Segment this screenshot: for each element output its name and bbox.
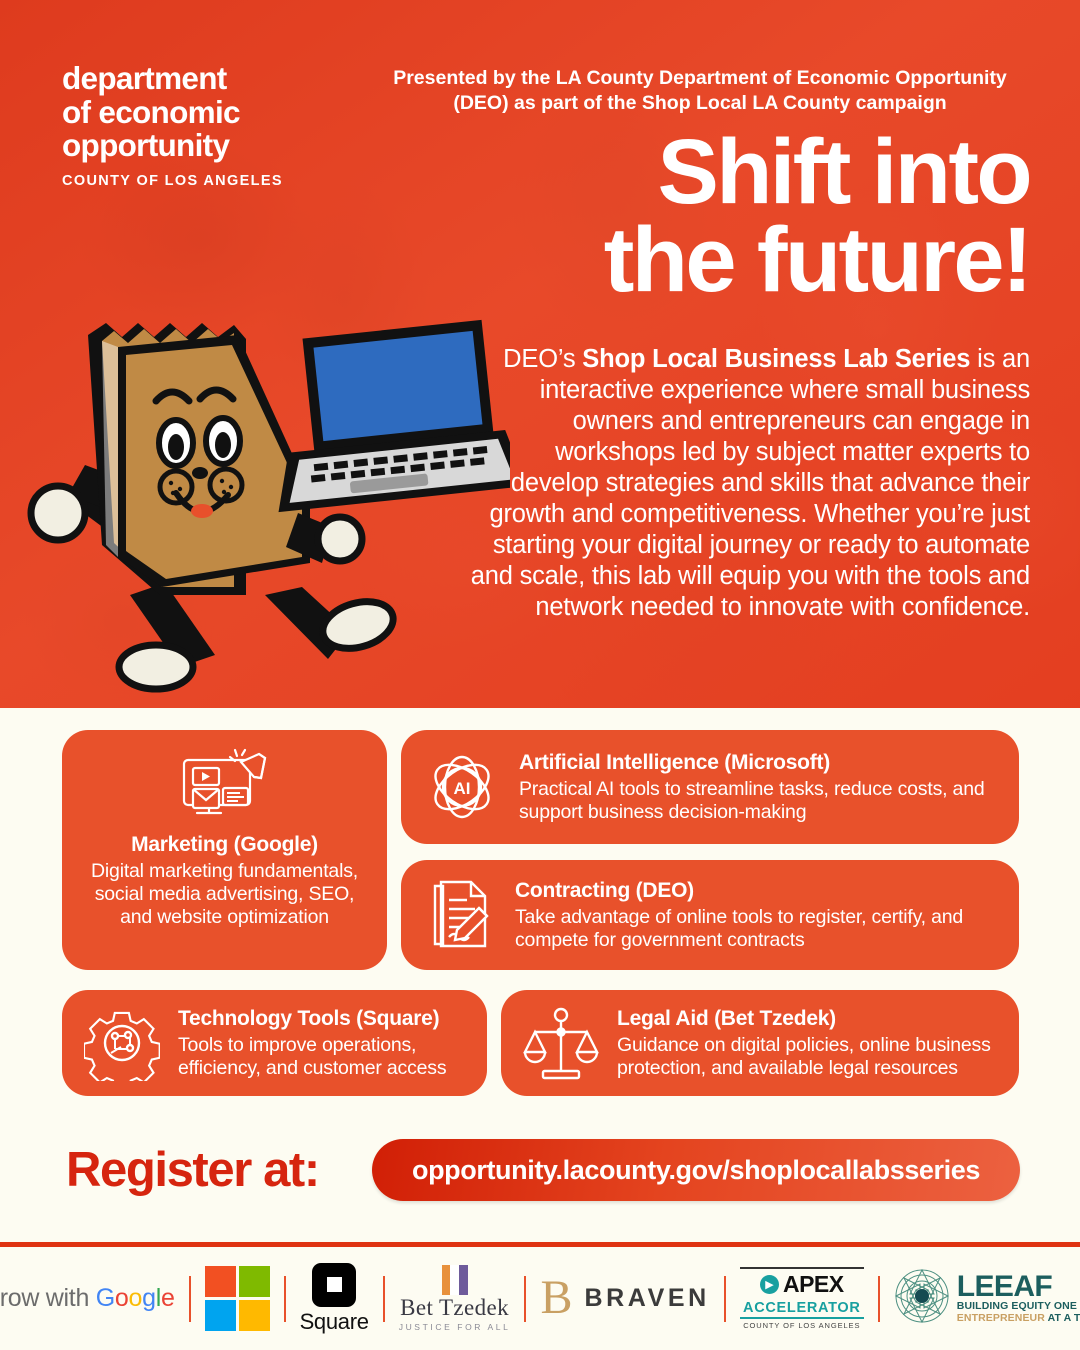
- presenter-text: Presented by the LA County Department of…: [370, 66, 1030, 116]
- document-pencil-icon: [423, 876, 497, 954]
- partner-logo-bet-tzedek: Bet Tzedek JUSTICE FOR ALL: [399, 1265, 511, 1332]
- leeaf-tagline-1: BUILDING EQUITY ONE: [957, 1300, 1080, 1312]
- logo-line-1: department: [62, 62, 362, 96]
- partner-logos: Grow with Google Square Bet Tzedek JUSTI…: [0, 1247, 1080, 1350]
- card-technology-tools[interactable]: Technology Tools (Square) Tools to impro…: [62, 990, 487, 1096]
- logo-separator: [383, 1276, 385, 1322]
- microsoft-squares-icon: [205, 1266, 270, 1331]
- bet-tzedek-tagline: JUSTICE FOR ALL: [399, 1322, 511, 1332]
- logo-separator: [524, 1276, 526, 1322]
- card-description: Tools to improve operations, efficiency,…: [178, 1034, 467, 1080]
- card-legal-aid[interactable]: Legal Aid (Bet Tzedek) Guidance on digit…: [501, 990, 1019, 1096]
- card-title: Legal Aid (Bet Tzedek): [617, 1006, 999, 1031]
- braven-label: BRAVEN: [584, 1284, 709, 1313]
- bet-tzedek-flame-icon: [442, 1265, 468, 1295]
- card-description: Practical AI tools to streamline tasks, …: [519, 778, 999, 824]
- logo-line-2: of economic: [62, 96, 362, 130]
- card-contracting[interactable]: Contracting (DEO) Take advantage of onli…: [401, 860, 1019, 970]
- square-mark-icon: [312, 1263, 356, 1307]
- leeaf-tagline-2b: AT A TIME: [1045, 1312, 1080, 1324]
- headline-line-1: Shift into: [657, 121, 1030, 223]
- leeaf-starburst-icon: [894, 1268, 950, 1329]
- card-description: Take advantage of online tools to regist…: [515, 906, 999, 952]
- paper-bag-mascot-icon: [10, 295, 510, 695]
- partner-logo-microsoft: [205, 1266, 270, 1331]
- logo-subtitle: COUNTY OF LOS ANGELES: [62, 173, 362, 189]
- square-label: Square: [300, 1309, 369, 1335]
- partner-logo-braven: B BRAVEN: [540, 1279, 709, 1317]
- logo-separator: [724, 1276, 726, 1322]
- card-title: Artificial Intelligence (Microsoft): [519, 750, 999, 775]
- braven-mark-icon: B: [540, 1279, 572, 1317]
- card-ai[interactable]: AI Artificial Intelligence (Microsoft) P…: [401, 730, 1019, 844]
- register-label: Register at:: [66, 1142, 319, 1198]
- apex-county: COUNTY OF LOS ANGELES: [743, 1321, 860, 1330]
- card-title: Contracting (DEO): [515, 878, 999, 903]
- ai-atom-icon: AI: [423, 748, 501, 826]
- apex-label: APEX: [783, 1271, 844, 1298]
- partner-logo-leeaf: LEEAF BUILDING EQUITY ONE ENTREPRENEUR A…: [894, 1268, 1080, 1329]
- gear-circuit-icon: [84, 1005, 160, 1081]
- scales-of-justice-icon: [523, 1004, 599, 1082]
- description-post: is an interactive experience where small…: [471, 345, 1030, 621]
- logo-line-3: opportunity: [62, 129, 362, 163]
- card-description: Guidance on digital policies, online bus…: [617, 1034, 999, 1080]
- svg-text:AI: AI: [454, 779, 471, 798]
- apex-sublabel: ACCELERATOR: [743, 1300, 861, 1316]
- page-title: Shift into the future!: [430, 128, 1030, 305]
- partner-logo-google: Grow with Google: [0, 1284, 175, 1313]
- card-title: Technology Tools (Square): [178, 1006, 467, 1031]
- grow-with-text: Grow with: [0, 1284, 96, 1312]
- logo-separator: [284, 1276, 286, 1322]
- monitor-megaphone-icon: [179, 748, 271, 828]
- headline-line-2: the future!: [604, 209, 1030, 311]
- partner-logo-square: Square: [300, 1263, 369, 1335]
- description-bold: Shop Local Business Lab Series: [582, 345, 970, 373]
- card-description: Digital marketing fundamentals, social m…: [78, 860, 371, 929]
- leeaf-tagline-2a: ENTREPRENEUR: [957, 1312, 1045, 1324]
- register-section: Register at: opportunity.lacounty.gov/sh…: [0, 1132, 1080, 1224]
- program-cards: Marketing (Google) Digital marketing fun…: [0, 708, 1080, 1138]
- card-title: Marketing (Google): [131, 832, 318, 857]
- card-marketing[interactable]: Marketing (Google) Digital marketing fun…: [62, 730, 387, 970]
- register-url-button[interactable]: opportunity.lacounty.gov/shoplocallabsse…: [372, 1139, 1020, 1201]
- logo-separator: [878, 1276, 880, 1322]
- partner-logo-apex: ▶ APEX ACCELERATOR COUNTY OF LOS ANGELES: [740, 1267, 864, 1330]
- description-pre: DEO’s: [503, 345, 582, 373]
- hero-description: DEO’s Shop Local Business Lab Series is …: [470, 344, 1030, 623]
- hero-section: department of economic opportunity COUNT…: [0, 0, 1080, 708]
- apex-arrow-icon: ▶: [760, 1275, 779, 1294]
- leeaf-label: LEEAF: [957, 1273, 1080, 1300]
- bet-tzedek-label: Bet Tzedek: [400, 1295, 509, 1321]
- grow-with-google-wordmark: Grow with Google: [0, 1284, 175, 1313]
- deo-logo: department of economic opportunity COUNT…: [62, 62, 362, 189]
- logo-separator: [189, 1276, 191, 1322]
